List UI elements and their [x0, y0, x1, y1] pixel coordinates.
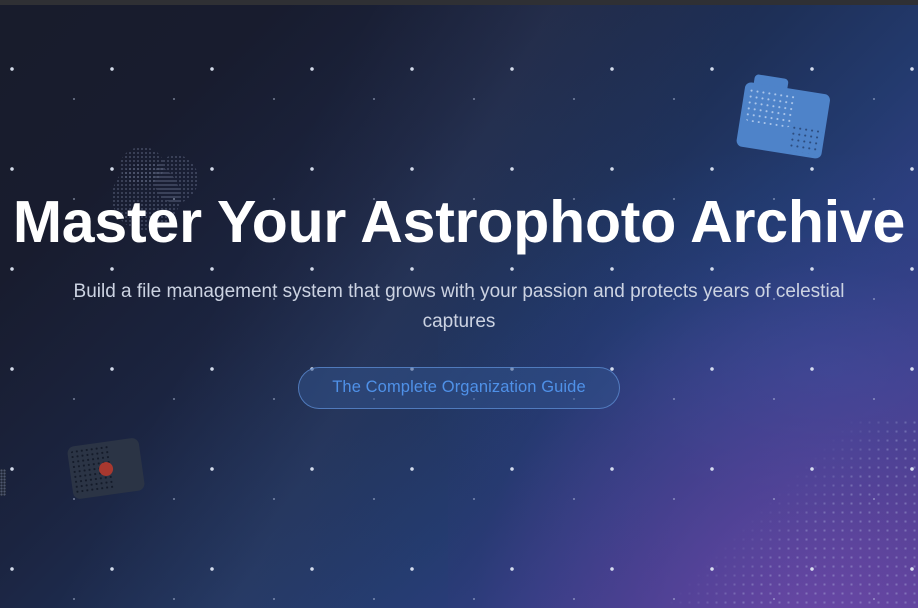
hero-subtitle: Build a file management system that grow… — [64, 277, 854, 337]
hero-content: Master Your Astrophoto Archive Build a f… — [0, 5, 918, 608]
browser-chrome-strip — [0, 0, 918, 5]
browser-viewport: Master Your Astrophoto Archive Build a f… — [0, 0, 918, 608]
page-title: Master Your Astrophoto Archive — [13, 191, 905, 255]
complete-organization-guide-button[interactable]: The Complete Organization Guide — [298, 367, 619, 409]
hero-section: Master Your Astrophoto Archive Build a f… — [0, 5, 918, 608]
